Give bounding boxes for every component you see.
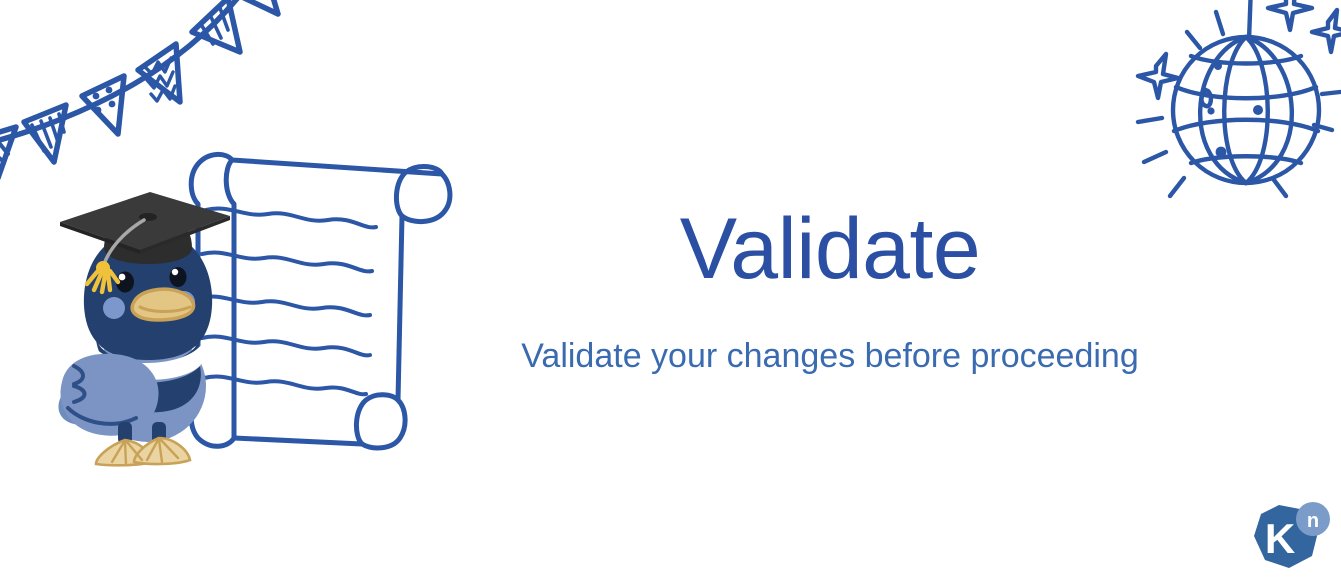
page-title: Validate xyxy=(462,206,1198,292)
slide-canvas: Validate Validate your changes before pr… xyxy=(0,0,1341,585)
logo-letter-n: n xyxy=(1307,510,1319,532)
slide-text-block: Validate Validate your changes before pr… xyxy=(462,206,1198,377)
graduate-bird-mascot xyxy=(52,190,232,470)
kn-brand-logo[interactable]: K n xyxy=(1248,500,1332,576)
certificate-scroll-decoration xyxy=(176,138,466,456)
bunting-flags-decoration xyxy=(0,0,334,182)
logo-letter-k: K xyxy=(1265,515,1295,562)
disco-ball-decoration xyxy=(1118,0,1341,220)
page-subtitle: Validate your changes before proceeding xyxy=(462,292,1198,377)
